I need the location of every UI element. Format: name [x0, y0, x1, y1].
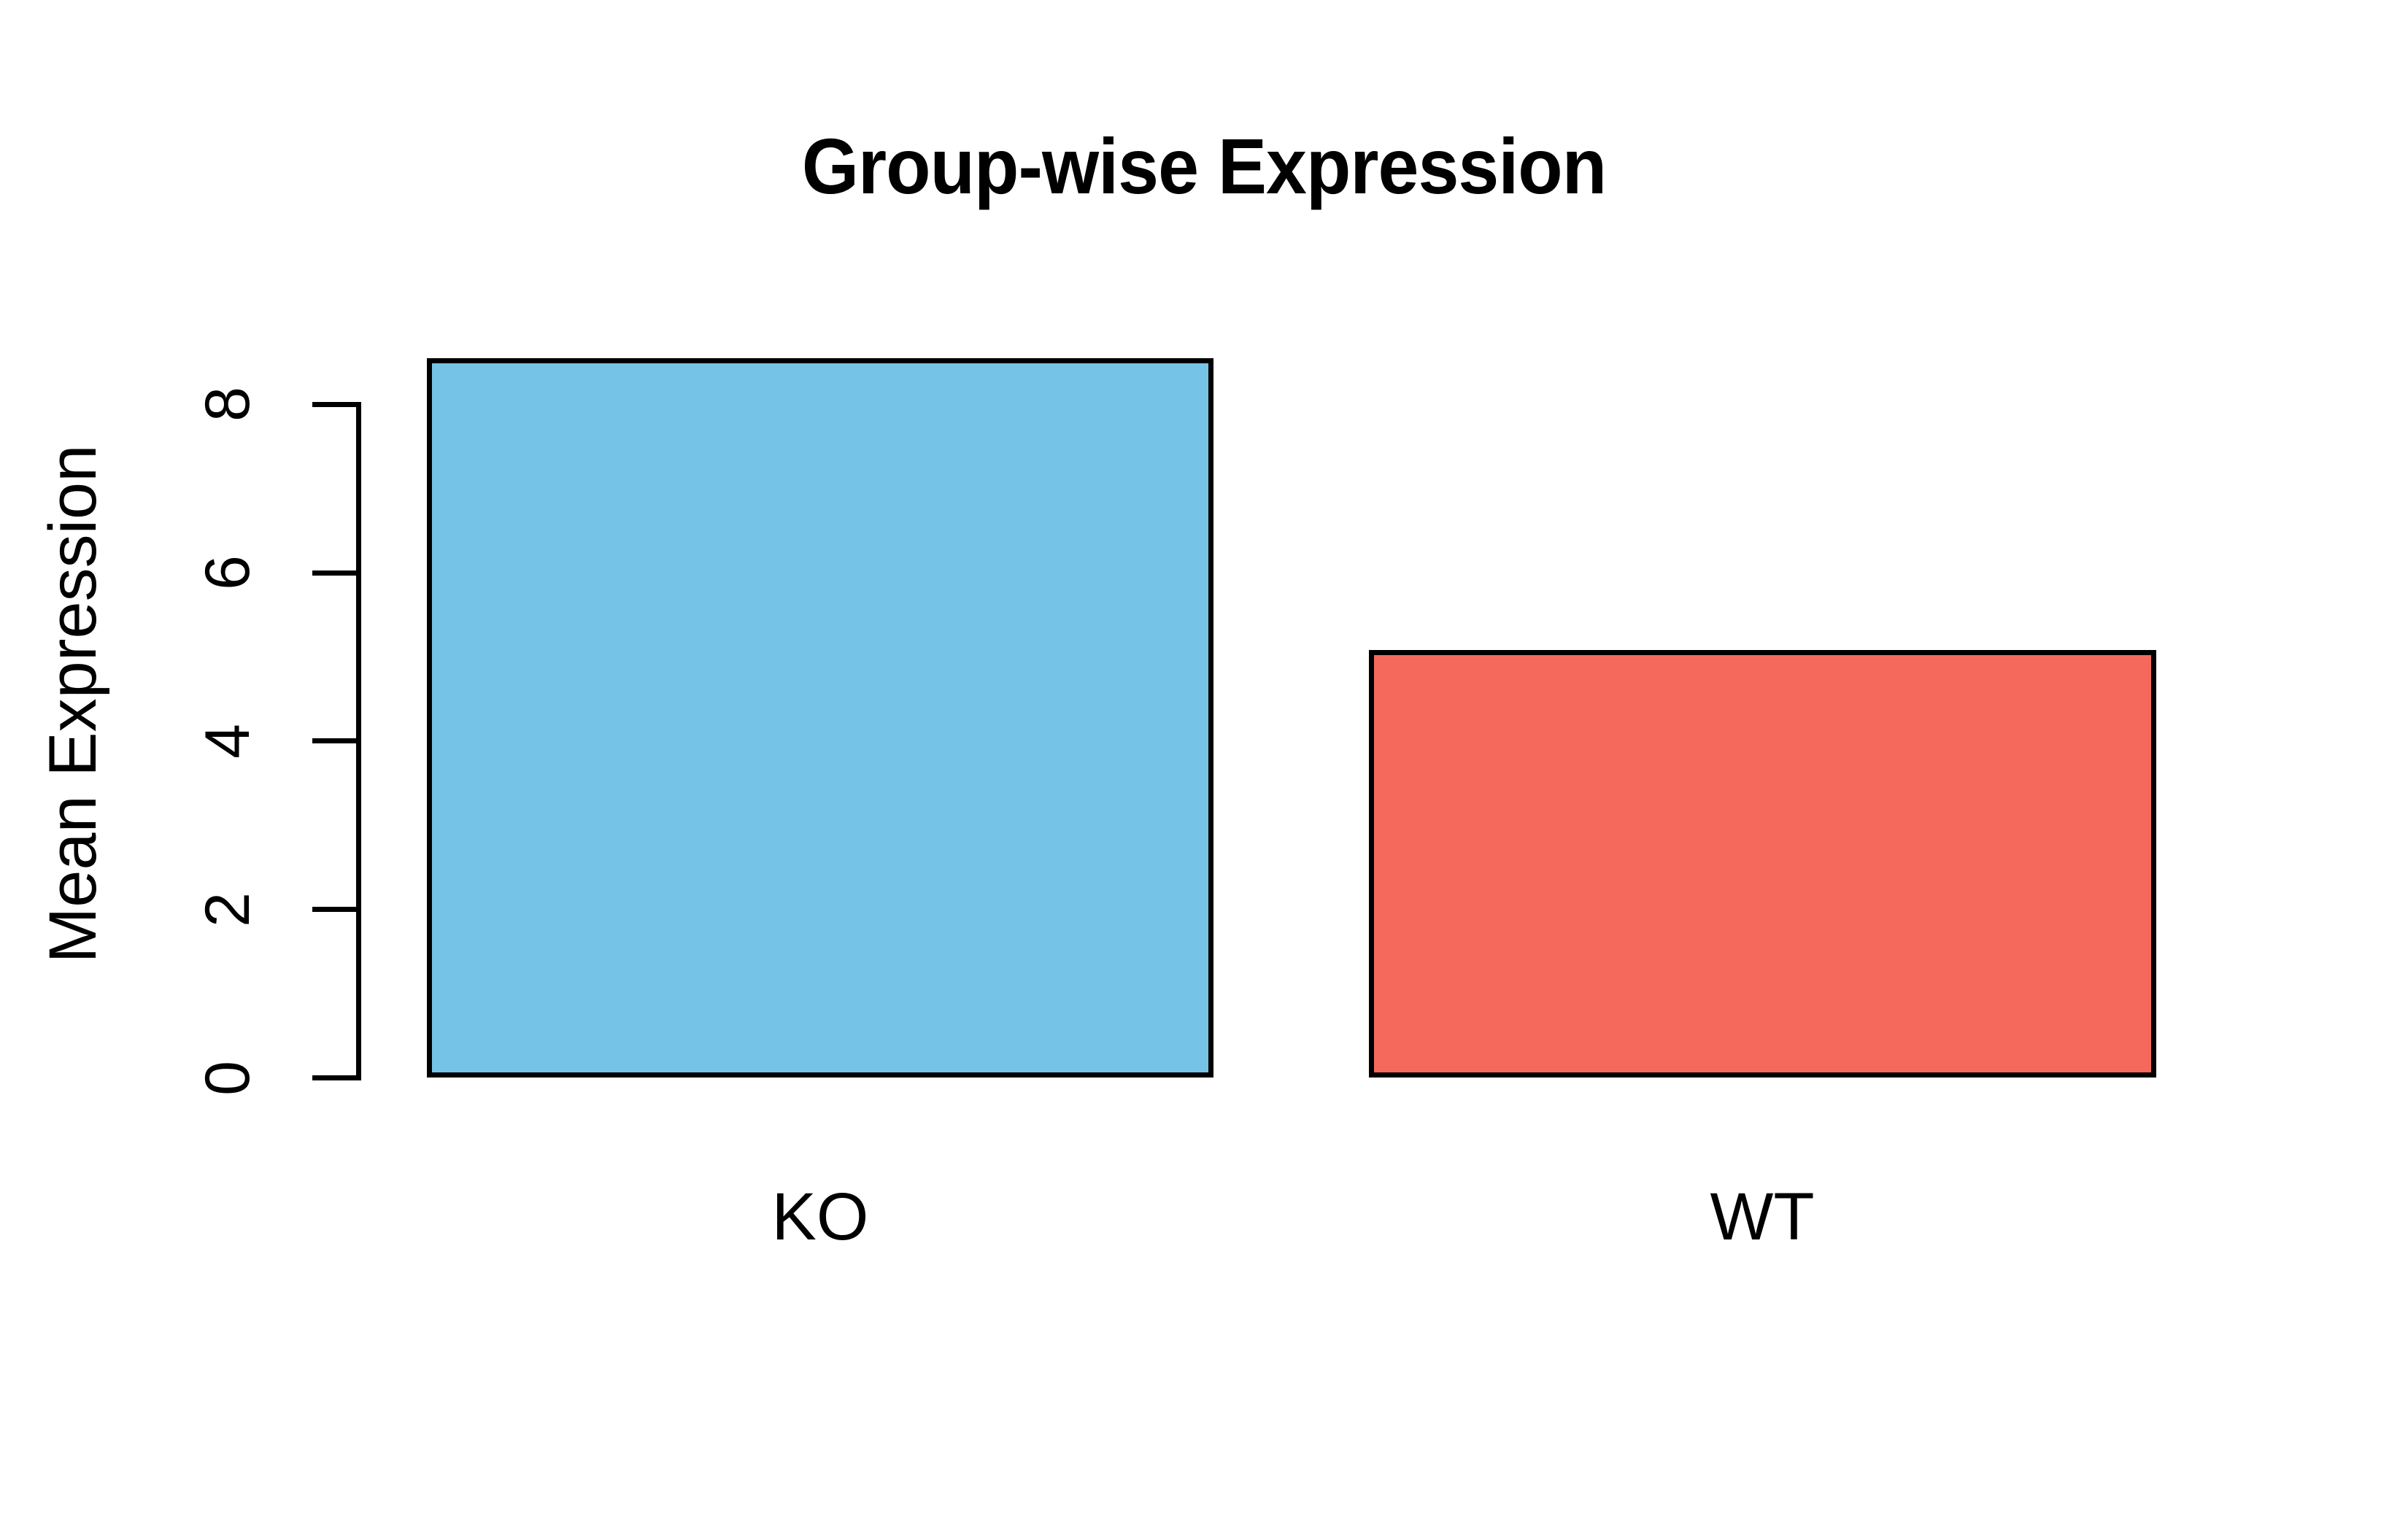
y-axis-ticklabel-4-text: 4 [196, 724, 259, 759]
bar-ko[interactable] [427, 358, 1213, 1078]
y-axis-title: Mean Expression [39, 445, 107, 964]
y-axis-tick-0 [312, 1075, 358, 1080]
y-axis-ticklabel-4: 4 [184, 710, 271, 773]
y-axis-tick-6 [312, 570, 358, 576]
chart-title: Group-wise Expression [85, 123, 2324, 210]
chart-canvas: Group-wise Expression Mean Expression 0 … [0, 0, 2408, 1532]
y-axis-ticklabel-6-text: 6 [196, 555, 259, 590]
y-axis-ticklabel-6: 6 [184, 541, 271, 604]
x-axis-ticklabel-wt: WT [1710, 1183, 1814, 1250]
y-axis-tick-2 [312, 907, 358, 912]
y-axis-tick-8 [312, 402, 358, 407]
bar-wt[interactable] [1369, 650, 2156, 1078]
y-axis-ticklabel-8-text: 8 [196, 387, 259, 422]
y-axis-tick-4 [312, 738, 358, 743]
y-axis-ticklabel-0-text: 0 [196, 1061, 259, 1096]
y-axis-title-container: Mean Expression [0, 0, 146, 1532]
y-axis-ticklabel-2-text: 2 [196, 892, 259, 927]
x-axis-ticklabel-ko: KO [772, 1183, 869, 1250]
y-axis-ticklabel-2: 2 [184, 878, 271, 941]
y-axis-ticklabel-8: 8 [184, 373, 271, 436]
y-axis-ticklabel-0: 0 [184, 1047, 271, 1110]
